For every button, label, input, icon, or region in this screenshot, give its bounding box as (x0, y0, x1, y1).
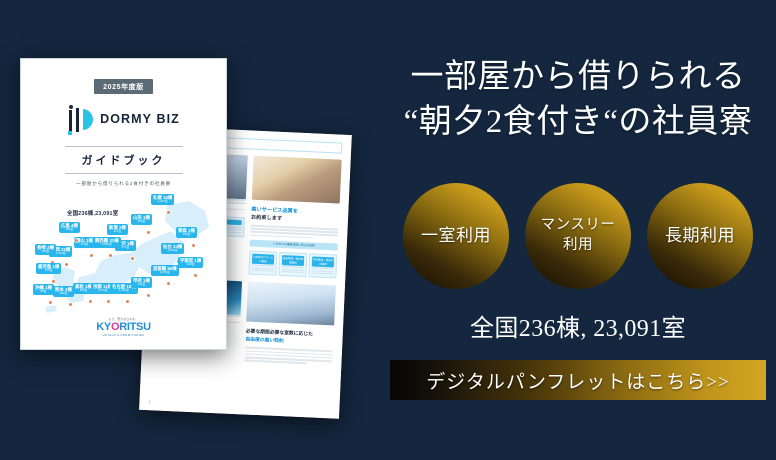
year-badge: 2025年度版 (94, 79, 153, 94)
map-tag-8: 広島 4棟335室 (59, 222, 80, 233)
inner-page-right-column: 高いサービス品質を お約束します こだわりの運営体制と安心の品質 入居者向けサー… (248, 156, 341, 279)
page-number: 2 (148, 399, 150, 404)
map-tag-3: 新潟 2棟217室 (107, 224, 128, 235)
brochure-cover[interactable]: 2025年度版 DORMY BIZ ガイドブック 一部屋から借りられる2食付きの… (20, 58, 227, 350)
kyoritsu-wordmark: KYORITSU (96, 321, 150, 333)
feature-badge-2: 長期利用 (647, 183, 753, 289)
map-tag-6: 関西圏 33棟3,060室 (93, 237, 121, 248)
inner-page-right-column-2: 必要な期間必要な室数に応じた 自由度の高い契約 (244, 282, 336, 367)
dormy-d-icon (67, 105, 95, 133)
map-tag-4: 仙台 24棟1,655室 (161, 243, 184, 254)
headline-line-1: 一部屋から借りられる (380, 55, 776, 100)
feature-badges: 一室利用マンスリー利用長期利用 (380, 183, 776, 289)
headline-line-2: “朝夕2食付き“の社員寮 (380, 100, 776, 145)
map-tag-11: 鹿児島 1棟125室 (36, 263, 61, 274)
dormy-biz-logo: DORMY BIZ (67, 105, 180, 133)
digital-pamphlet-button[interactable]: デジタルパンフレットはこちら>> (390, 360, 766, 400)
feature-badge-0: 一室利用 (403, 183, 509, 289)
map-tag-13: 熊本 2棟262室 (53, 286, 74, 297)
stat-label: 全国236棟, 23,091室 (380, 308, 776, 343)
cover-title: ガイドブック (82, 152, 166, 168)
map-tag-0: 札幌 15棟1,247室 (151, 194, 174, 205)
dormy-biz-wordmark: DORMY BIZ (100, 112, 180, 126)
cover-tagline: 一部屋から借りられる2食付きの社員寮 (76, 181, 171, 187)
inner-badge-1: 入居者向けサービス業務 (248, 250, 277, 276)
photo-kitchen (252, 156, 342, 204)
kyoritsu-sub: HOTELS & DORMITORIES (96, 334, 150, 337)
map-tag-19: 宇都宮 1棟129室 (178, 257, 203, 268)
promo-copy: 一部屋から借りられる “朝夕2食付き“の社員寮 一室利用マンスリー利用長期利用 … (380, 0, 776, 460)
promo-banner: 高いサービス品質を お約束します こだわりの運営体制と安心の品質 入居者向けサー… (0, 0, 776, 460)
map-tag-17: 甲府 1棟136室 (131, 277, 152, 288)
brochure-stack: 高いサービス品質を お約束します こだわりの運営体制と安心の品質 入居者向けサー… (0, 0, 380, 460)
japan-map: 全国236棟,23,091室 札幌 15棟1,247室山形 1棟125 (33, 191, 214, 343)
inner-badge-3: 安否確認・緊急対応業務 (309, 253, 338, 279)
map-tag-10: 長崎 2棟180室 (35, 244, 56, 255)
inner-badge-2: 運営管理・維持管理業務 (278, 252, 307, 278)
map-tag-1: 山形 1棟125室 (131, 214, 152, 225)
map-tag-2: 青森 1棟190室 (176, 227, 197, 238)
inner-strip-label: こだわりの運営体制と安心の品質 (250, 240, 338, 251)
feature-badge-1: マンスリー利用 (525, 183, 631, 289)
kyoritsu-logo: より、豊かな日々を。 KYORITSU HOTELS & DORMITORIES (96, 317, 150, 337)
headline: 一部屋から借りられる “朝夕2食付き“の社員寮 (380, 55, 776, 145)
photo-room-desk (246, 282, 336, 326)
map-tag-12: 沖縄 1棟80室 (33, 284, 54, 295)
map-tag-18: 首都圏 96棟9,259室 (151, 265, 179, 276)
